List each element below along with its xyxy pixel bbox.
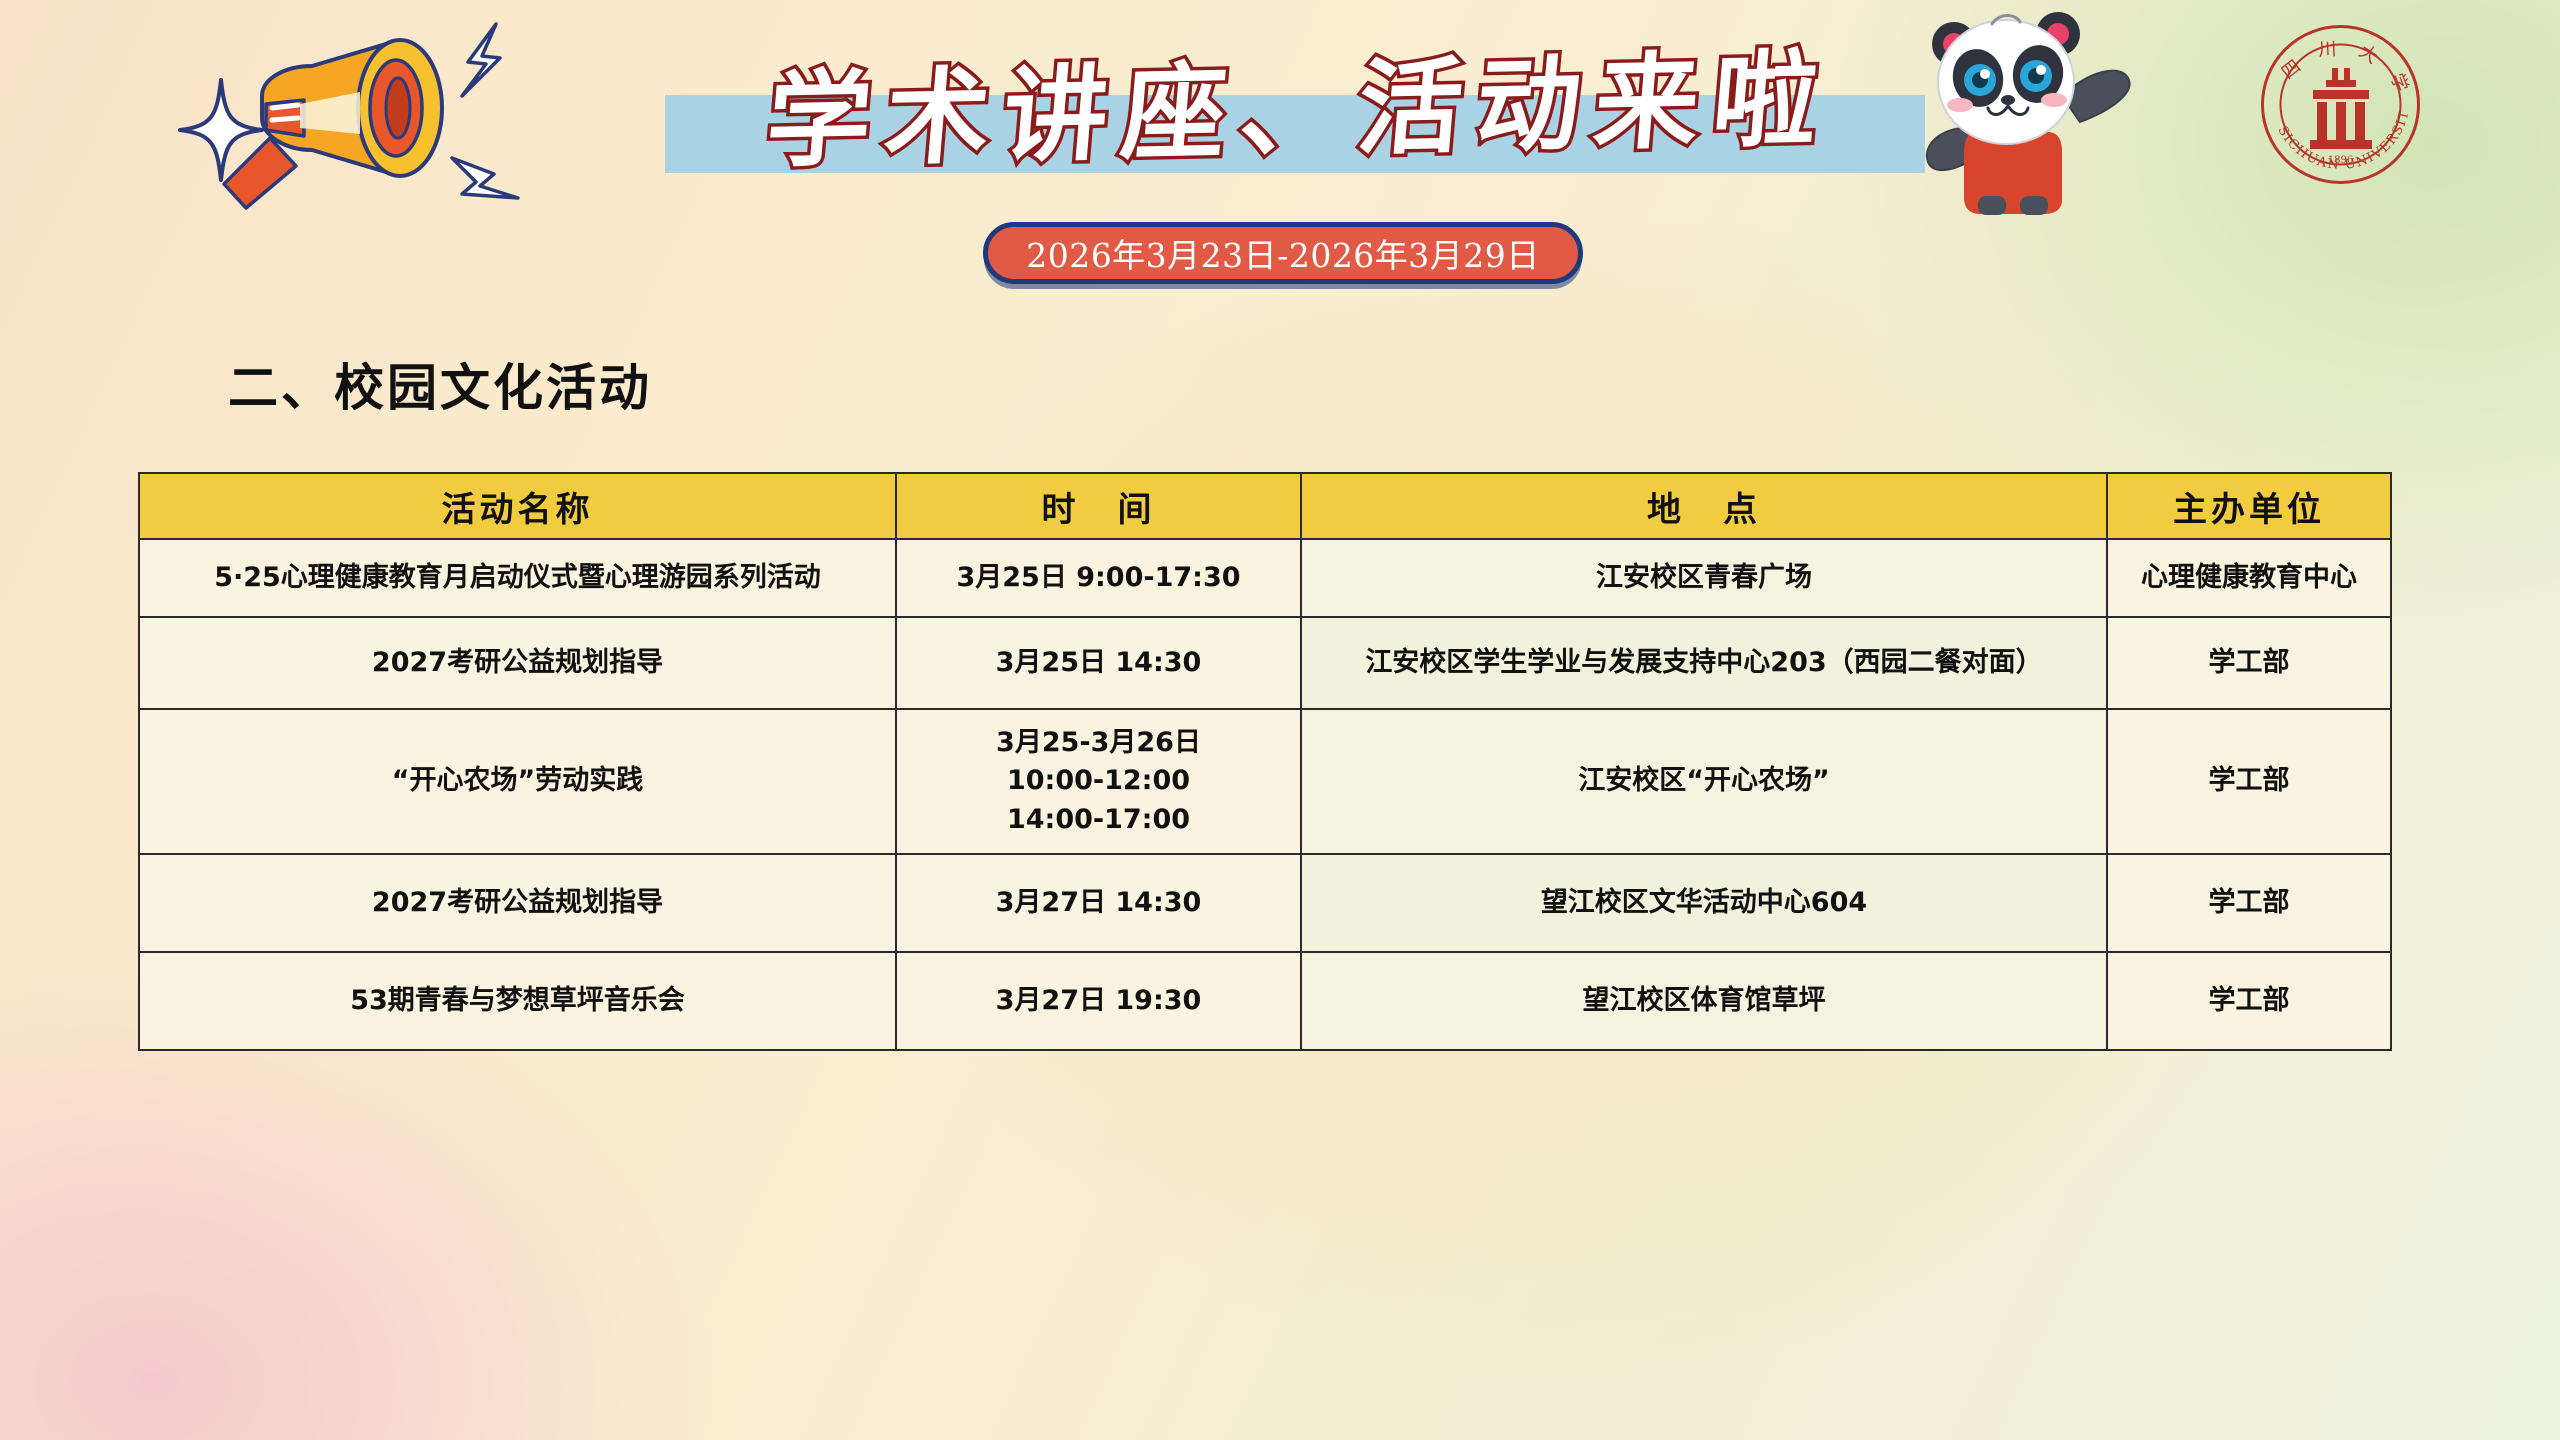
cell-place: 江安校区学生学业与发展支持中心203（西园二餐对面）	[1301, 617, 2107, 709]
date-range-text: 2026年3月23日-2026年3月29日	[1026, 229, 1540, 277]
table-row: 2027考研公益规划指导 3月25日 14:30 江安校区学生学业与发展支持中心…	[139, 617, 2391, 709]
column-header-place: 地 点	[1301, 473, 2107, 539]
table-row: “开心农场”劳动实践 3月25-3月26日 10:00-12:00 14:00-…	[139, 709, 2391, 854]
cell-time: 3月25-3月26日 10:00-12:00 14:00-17:00	[896, 709, 1301, 854]
cell-place: 望江校区体育馆草坪	[1301, 952, 2107, 1050]
cell-organizer: 学工部	[2107, 617, 2391, 709]
column-header-organizer: 主办单位	[2107, 473, 2391, 539]
table-row: 2027考研公益规划指导 3月27日 14:30 望江校区文华活动中心604 学…	[139, 854, 2391, 952]
cell-time: 3月27日 19:30	[896, 952, 1301, 1050]
cell-place: 江安校区“开心农场”	[1301, 709, 2107, 854]
section-heading: 二、校园文化活动	[228, 348, 652, 420]
cell-activity-name: 2027考研公益规划指导	[139, 854, 896, 952]
table-header-row: 活动名称 时 间 地 点 主办单位	[139, 473, 2391, 539]
date-range-badge: 2026年3月23日-2026年3月29日	[983, 222, 1583, 284]
cell-activity-name: 2027考研公益规划指导	[139, 617, 896, 709]
cell-time: 3月27日 14:30	[896, 854, 1301, 952]
cell-activity-name: 53期青春与梦想草坪音乐会	[139, 952, 896, 1050]
cell-time: 3月25日 14:30	[896, 617, 1301, 709]
table-row: 53期青春与梦想草坪音乐会 3月27日 19:30 望江校区体育馆草坪 学工部	[139, 952, 2391, 1050]
cell-activity-name: 5·25心理健康教育月启动仪式暨心理游园系列活动	[139, 539, 896, 617]
column-header-time: 时 间	[896, 473, 1301, 539]
cell-organizer: 学工部	[2107, 709, 2391, 854]
cell-organizer: 心理健康教育中心	[2107, 539, 2391, 617]
cell-activity-name: “开心农场”劳动实践	[139, 709, 896, 854]
page-title: 学术讲座、活动来啦	[683, 22, 1916, 178]
sichuan-university-logo: 1896 四川大学 SICHUAN UNIVERSITY	[2258, 22, 2423, 187]
cell-organizer: 学工部	[2107, 952, 2391, 1050]
activities-table: 活动名称 时 间 地 点 主办单位 5·25心理健康教育月启动仪式暨心理游园系列…	[138, 472, 2392, 1051]
cell-place: 望江校区文华活动中心604	[1301, 854, 2107, 952]
cell-organizer: 学工部	[2107, 854, 2391, 952]
panda-mascot-icon	[1880, 0, 2140, 215]
activities-table-container: 活动名称 时 间 地 点 主办单位 5·25心理健康教育月启动仪式暨心理游园系列…	[138, 472, 2390, 1051]
cell-time: 3月25日 9:00-17:30	[896, 539, 1301, 617]
megaphone-icon	[200, 8, 620, 218]
column-header-activity-name: 活动名称	[139, 473, 896, 539]
cell-place: 江安校区青春广场	[1301, 539, 2107, 617]
table-row: 5·25心理健康教育月启动仪式暨心理游园系列活动 3月25日 9:00-17:3…	[139, 539, 2391, 617]
